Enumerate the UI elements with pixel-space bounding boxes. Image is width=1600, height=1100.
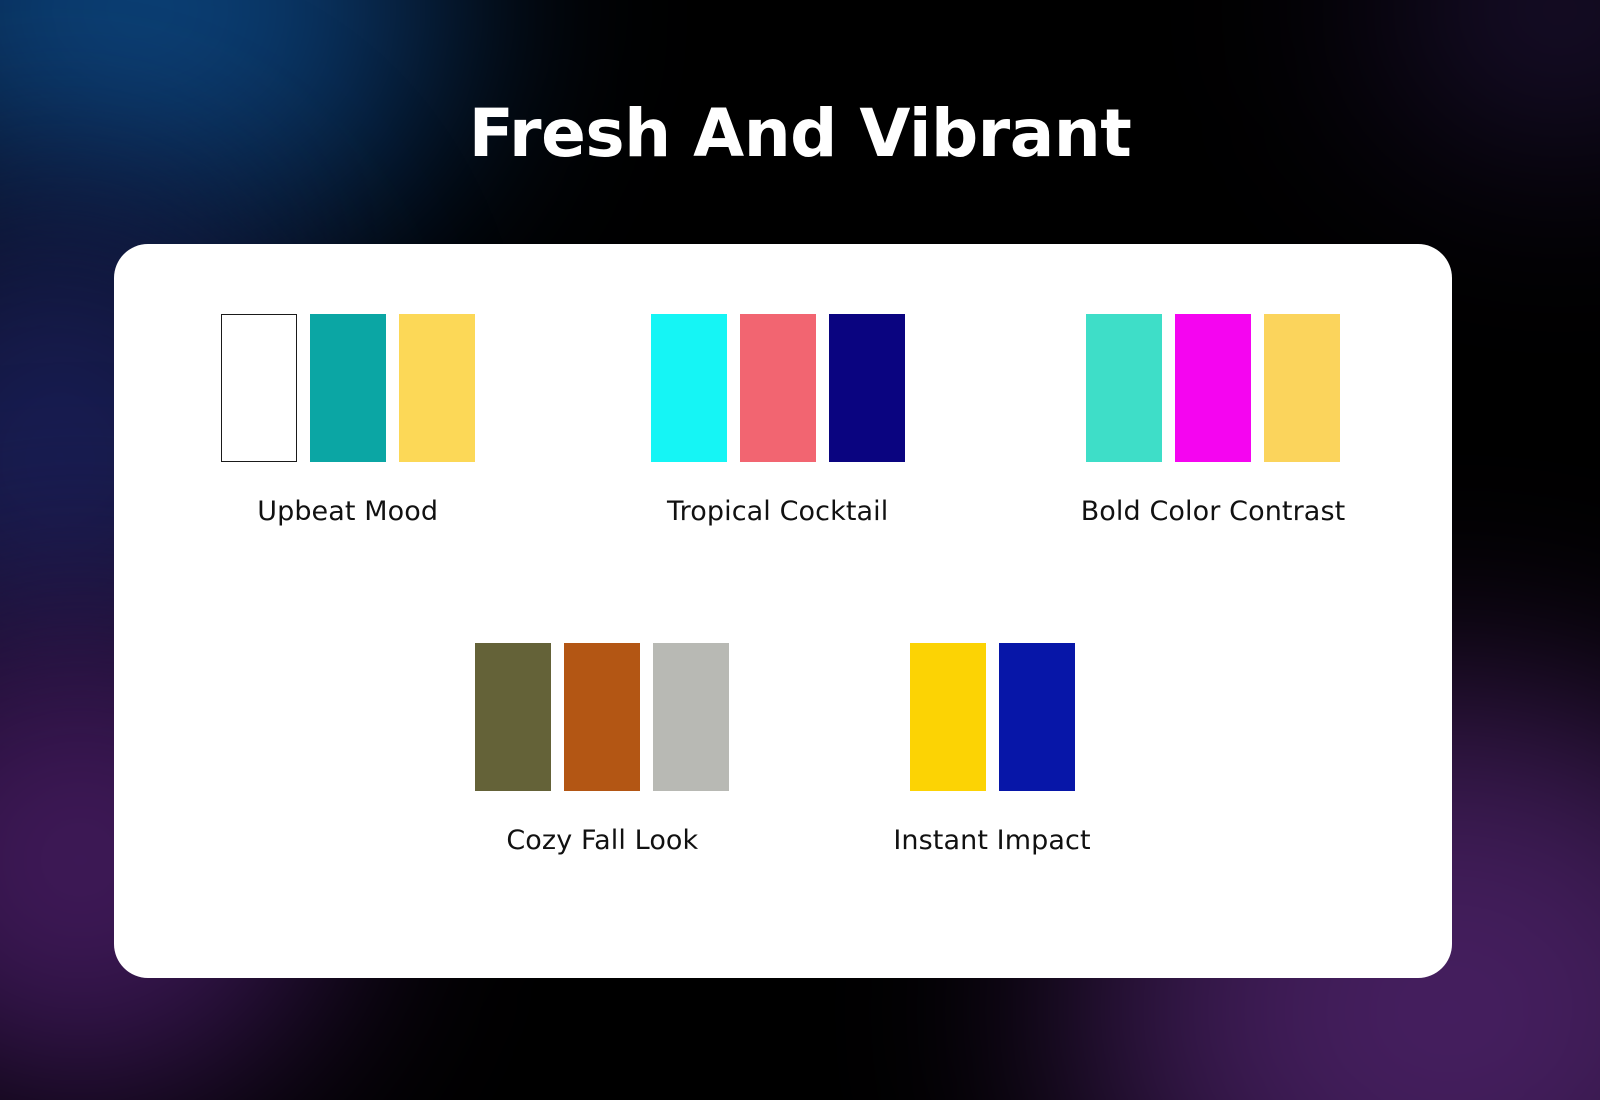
palette-rows: Upbeat MoodTropical CocktailBold Color C… <box>114 244 1452 978</box>
color-palette: Upbeat Mood <box>221 314 475 527</box>
color-swatch[interactable] <box>1264 314 1340 462</box>
swatch-strip <box>910 643 1075 791</box>
color-swatch[interactable] <box>999 643 1075 791</box>
color-palette: Cozy Fall Look <box>475 643 729 856</box>
color-swatch[interactable] <box>651 314 727 462</box>
swatch-strip <box>221 314 475 462</box>
color-swatch[interactable] <box>221 314 297 462</box>
color-swatch[interactable] <box>829 314 905 462</box>
color-palette: Instant Impact <box>893 643 1090 856</box>
palette-label: Bold Color Contrast <box>1081 496 1346 527</box>
color-swatch[interactable] <box>310 314 386 462</box>
color-swatch[interactable] <box>653 643 729 791</box>
palette-card: Upbeat MoodTropical CocktailBold Color C… <box>114 244 1452 978</box>
palette-row-bottom: Cozy Fall LookInstant Impact <box>114 643 1452 856</box>
palette-label: Instant Impact <box>893 825 1090 856</box>
palette-label: Tropical Cocktail <box>667 496 888 527</box>
color-swatch[interactable] <box>564 643 640 791</box>
color-palette: Bold Color Contrast <box>1081 314 1346 527</box>
color-swatch[interactable] <box>475 643 551 791</box>
color-swatch[interactable] <box>740 314 816 462</box>
palette-row-top: Upbeat MoodTropical CocktailBold Color C… <box>114 314 1452 527</box>
swatch-strip <box>651 314 905 462</box>
color-swatch[interactable] <box>1175 314 1251 462</box>
palette-label: Cozy Fall Look <box>506 825 698 856</box>
color-swatch[interactable] <box>399 314 475 462</box>
color-swatch[interactable] <box>910 643 986 791</box>
page-title: Fresh And Vibrant <box>0 98 1600 171</box>
swatch-strip <box>1086 314 1340 462</box>
color-swatch[interactable] <box>1086 314 1162 462</box>
palette-label: Upbeat Mood <box>257 496 438 527</box>
color-palette: Tropical Cocktail <box>651 314 905 527</box>
swatch-strip <box>475 643 729 791</box>
